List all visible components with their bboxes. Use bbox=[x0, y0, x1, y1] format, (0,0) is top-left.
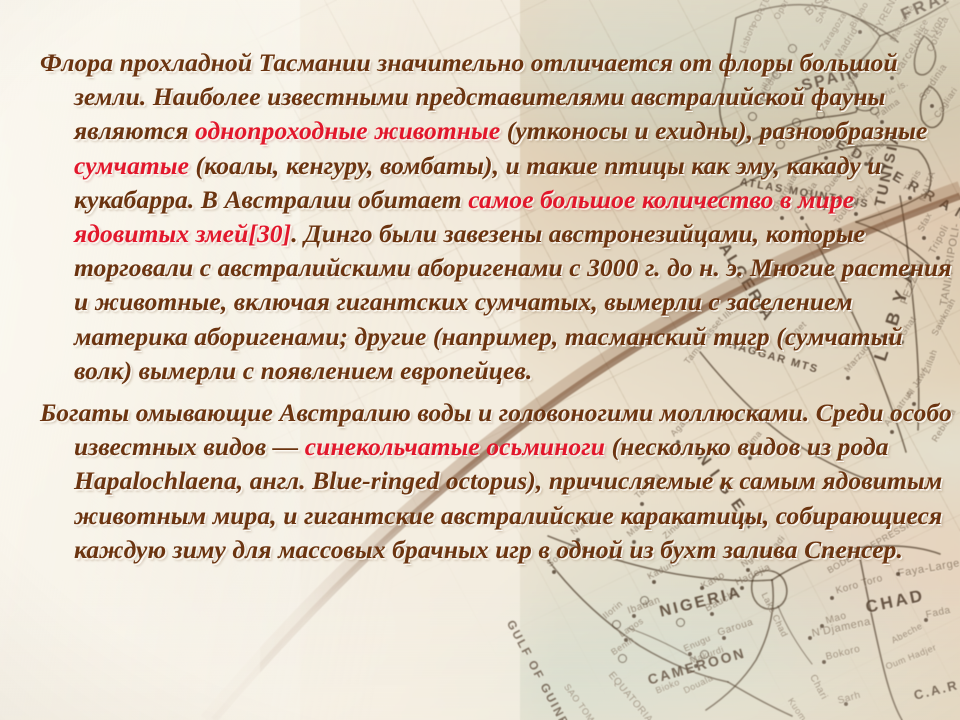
highlighted-term: однопроходные животные bbox=[195, 116, 500, 145]
highlighted-term: сумчатые bbox=[74, 151, 189, 180]
slide-text-body: Флора прохладной Тасмании значительно от… bbox=[40, 46, 952, 573]
paragraph-fauna: Флора прохладной Тасмании значительно от… bbox=[40, 46, 952, 388]
paragraph-cephalopods: Богаты омывающие Австралию воды и голово… bbox=[40, 396, 952, 567]
highlighted-term: синекольчатые осьминоги bbox=[305, 432, 605, 461]
body-text-run: (утконосы и ехидны), разнообразные bbox=[500, 116, 927, 145]
presentation-slide: FRANCEBISCAYBilbaoLyonPYRENEESOportoPORT… bbox=[0, 0, 960, 720]
